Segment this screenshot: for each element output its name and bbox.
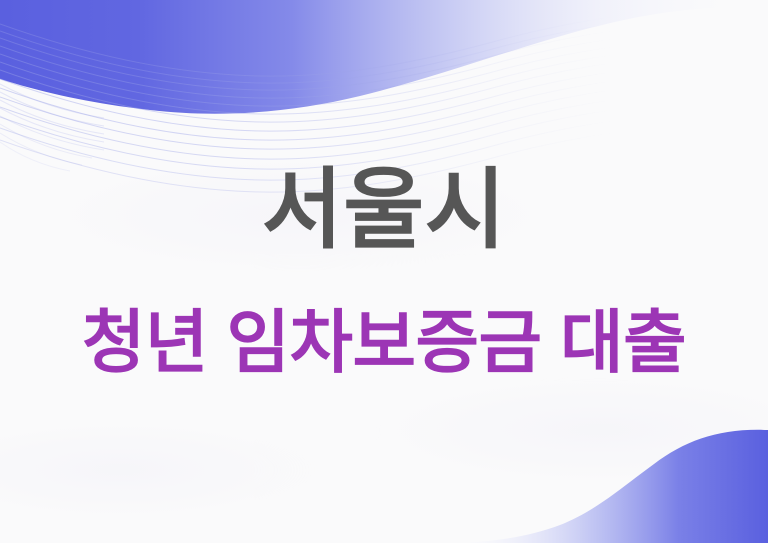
poster-canvas: 서울시 청년 임차보증금 대출: [0, 0, 768, 543]
page-title: 서울시: [262, 166, 506, 254]
page-subtitle: 청년 임차보증금 대출: [82, 308, 686, 377]
headline-stack: 서울시 청년 임차보증금 대출: [0, 0, 768, 543]
